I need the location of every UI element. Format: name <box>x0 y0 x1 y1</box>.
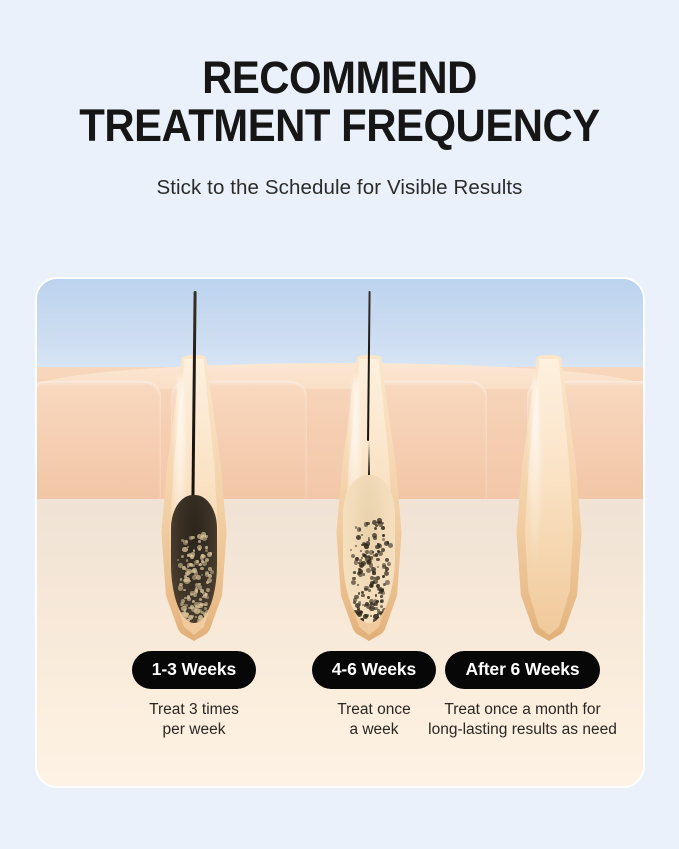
legend-item-stage-3: After 6 Weeks Treat once a month for lon… <box>400 651 645 740</box>
pigment-speck <box>355 545 357 547</box>
hair-follicle-stage-1 <box>146 355 242 645</box>
hair-follicle-stage-2 <box>321 355 417 645</box>
pigment-speck <box>366 522 369 525</box>
hair-bulb <box>171 495 217 623</box>
pigment-speck <box>360 618 364 622</box>
pigment-speck <box>210 570 214 574</box>
pigment-speck <box>363 543 366 546</box>
pigment-speck <box>193 550 195 552</box>
pigment-speck <box>358 592 360 594</box>
pigment-speck <box>177 559 179 561</box>
pigment-speck <box>205 596 209 600</box>
pigment-speck <box>360 611 362 613</box>
pigment-speck <box>369 583 374 588</box>
pigment-speck <box>357 584 359 586</box>
pigment-speck <box>198 540 201 543</box>
pigment-speck <box>205 558 209 562</box>
hair-follicle-stage-3 <box>501 355 597 645</box>
page-title-line-1: RECOMMEND <box>24 54 655 102</box>
pigment-speck <box>192 564 195 567</box>
pigment-speck <box>198 548 202 552</box>
pigment-speck <box>369 556 372 559</box>
pigment-speck <box>198 602 201 605</box>
pigment-speck <box>200 567 203 570</box>
pigment-speck <box>372 571 375 574</box>
pigment-speck <box>388 543 393 548</box>
pigment-speck <box>191 607 196 612</box>
pigment-speck <box>380 595 382 597</box>
pigment-speck <box>350 549 352 551</box>
treatment-schedule-legend: 1-3 Weeks Treat 3 times per week 4-6 Wee… <box>37 651 643 771</box>
pigment-speck <box>382 534 385 537</box>
stage-badge: 1-3 Weeks <box>132 651 256 689</box>
pigment-speck <box>359 603 362 606</box>
pigment-speck <box>381 526 385 530</box>
pigment-speck <box>199 563 203 567</box>
pigment-speck <box>387 562 391 566</box>
page-header: RECOMMEND TREATMENT FREQUENCY Stick to t… <box>0 0 679 200</box>
pigment-speck <box>376 558 379 561</box>
pigment-speck <box>205 535 207 537</box>
pigment-speck <box>186 619 190 623</box>
pigment-speck <box>180 578 183 581</box>
pigment-speck <box>360 550 363 553</box>
pigment-speck <box>183 589 185 591</box>
pigment-speck <box>370 615 372 617</box>
pigment-speck <box>207 552 212 557</box>
stage-caption: Treat once a month for long-lasting resu… <box>400 700 645 740</box>
pigment-speck <box>382 522 384 524</box>
pigment-speck <box>353 571 356 574</box>
pigment-speck <box>201 554 203 556</box>
pigment-speck <box>181 555 183 557</box>
pigment-speck <box>374 527 377 530</box>
hair-bulb <box>343 475 395 623</box>
pigment-speck <box>178 563 182 567</box>
page-title: RECOMMEND TREATMENT FREQUENCY <box>24 54 655 150</box>
page-title-line-2: TREATMENT FREQUENCY <box>24 102 655 150</box>
pigment-speck <box>361 561 366 566</box>
pigment-speck <box>365 550 369 554</box>
pigment-speck <box>385 580 390 585</box>
pigment-speck <box>361 534 364 537</box>
pigment-speck <box>180 602 184 606</box>
pigment-speck <box>373 536 377 540</box>
pigment-speck <box>207 578 212 583</box>
pigment-speck <box>368 589 372 593</box>
pigment-speck <box>381 548 385 552</box>
page-subtitle: Stick to the Schedule for Visible Result… <box>0 176 679 200</box>
pigment-speck <box>201 574 203 576</box>
pigment-speck <box>186 559 189 562</box>
follicle-highlight <box>530 375 540 575</box>
pigment-speck <box>206 588 210 592</box>
pigment-speck <box>376 576 380 580</box>
pigment-speck <box>195 583 199 587</box>
pigment-speck <box>192 575 197 580</box>
pigment-speck <box>366 568 371 573</box>
pigment-speck <box>186 613 188 615</box>
pigment-speck <box>382 565 386 569</box>
epidermis-cell <box>35 381 161 499</box>
stage-badge: After 6 Weeks <box>445 651 599 689</box>
pigment-speck <box>363 573 365 575</box>
pigment-speck <box>199 598 202 601</box>
pigment-speck <box>205 546 208 549</box>
pigment-speck <box>191 536 194 539</box>
pigment-speck <box>193 593 197 597</box>
pigment-speck <box>204 604 207 607</box>
pigment-speck <box>359 528 362 531</box>
pigment-speck <box>364 604 366 606</box>
pigment-speck <box>198 609 202 613</box>
pigment-speck <box>374 607 378 611</box>
pigment-speck <box>361 594 365 598</box>
pigment-speck <box>351 580 356 585</box>
pigment-speck <box>187 595 190 598</box>
pigment-speck <box>368 539 370 541</box>
pigment-speck <box>192 568 197 573</box>
illustration-card: 1-3 Weeks Treat 3 times per week 4-6 Wee… <box>35 277 645 788</box>
hair-shaft-tip <box>368 441 370 475</box>
pigment-speck <box>375 594 378 597</box>
pigment-speck <box>377 566 379 568</box>
pigment-speck <box>184 577 189 582</box>
pigment-speck <box>377 587 381 591</box>
pigment-speck <box>187 569 192 574</box>
pigment-speck <box>382 616 387 621</box>
pigment-speck <box>375 553 379 557</box>
